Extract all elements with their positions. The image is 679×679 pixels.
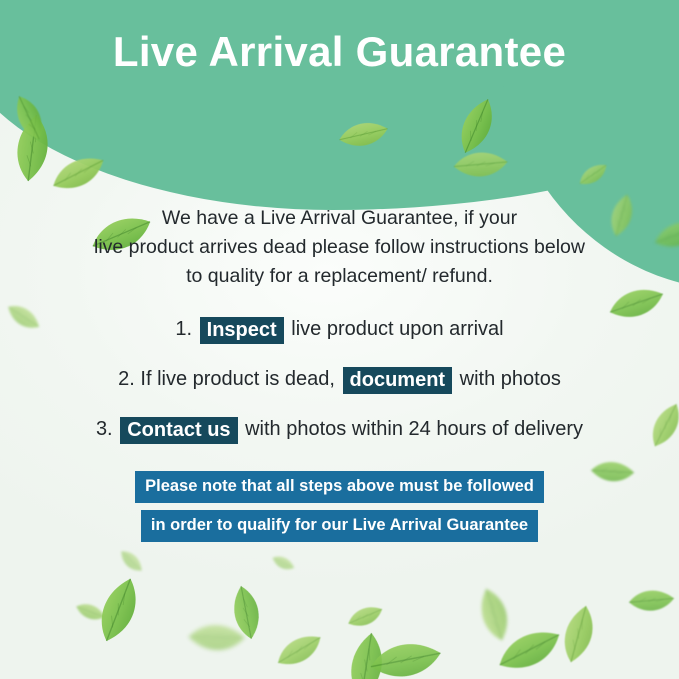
step-highlight-contact-us: Contact us — [120, 417, 237, 444]
step-text-1: live product upon arrival — [291, 318, 503, 340]
step-item-3: 3. Contact us with photos within 24 hour… — [0, 415, 679, 443]
page-title: Live Arrival Guarantee — [0, 28, 679, 76]
step-text-2-after: with photos — [460, 368, 561, 390]
notice-line-2: in order to qualify for our Live Arrival… — [141, 510, 538, 542]
step-item-1: 1. Inspect live product upon arrival — [0, 315, 679, 343]
step-number-1: 1. — [175, 318, 192, 340]
step-number-3: 3. — [96, 418, 113, 440]
intro-paragraph: We have a Live Arrival Guarantee, if you… — [0, 204, 679, 291]
content-area: We have a Live Arrival Guarantee, if you… — [0, 204, 679, 542]
step-text-3: with photos within 24 hours of delivery — [245, 418, 583, 440]
notice-line-1: Please note that all steps above must be… — [135, 471, 544, 503]
intro-line-3: to quality for a replacement/ refund. — [56, 262, 623, 291]
step-item-2: 2. If live product is dead, document wit… — [0, 365, 679, 393]
intro-line-1: We have a Live Arrival Guarantee, if you… — [56, 204, 623, 233]
step-text-2-before: If live product is dead, — [140, 368, 335, 390]
intro-line-2: live product arrives dead please follow … — [56, 233, 623, 262]
step-number-2: 2. — [118, 368, 135, 390]
live-arrival-guarantee-poster: Live Arrival Guarantee We have a Live Ar… — [0, 0, 679, 679]
notice-banner: Please note that all steps above must be… — [0, 471, 679, 542]
step-highlight-document: document — [343, 367, 453, 394]
steps-list: 1. Inspect live product upon arrival 2. … — [0, 315, 679, 443]
step-highlight-inspect: Inspect — [200, 317, 284, 344]
